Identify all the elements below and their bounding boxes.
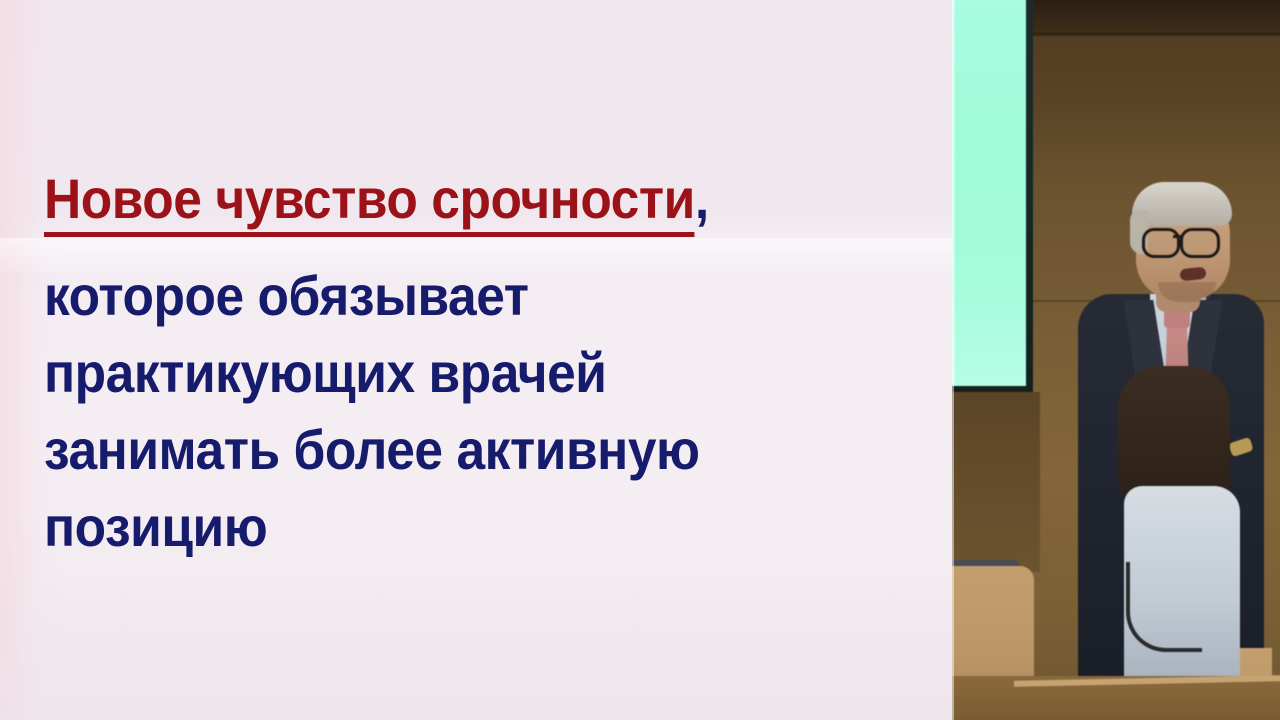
microphone-cable: [1126, 562, 1202, 652]
eyeglasses-bridge-icon: [1173, 235, 1182, 238]
slide-body-line-3: занимать более активную: [44, 411, 854, 488]
eyeglasses-right-lens-icon: [1180, 228, 1220, 258]
slide-video-composite: Новое чувство срочности, которое обязыва…: [0, 0, 1280, 720]
projection-screen: [952, 0, 1026, 386]
audience-member-figure: [1118, 366, 1250, 720]
wall-seam-upper: [1018, 33, 1280, 36]
slide-headline-line: Новое чувство срочности,: [44, 160, 854, 237]
slide-body-line-2: практикующих врачей: [44, 334, 854, 411]
wall-lower-left-shadow: [952, 392, 1040, 572]
slide-background-bottom-wash: [0, 570, 952, 720]
projection-screen-right-frame: [1026, 0, 1033, 390]
slide-body-line-4: позицию: [44, 488, 854, 565]
slide-headline-emphasis: Новое чувство срочности: [44, 167, 695, 237]
presentation-slide: Новое чувство срочности, которое обязыва…: [0, 0, 952, 720]
eyeglasses-left-lens-icon: [1142, 228, 1180, 258]
slide-video-divider: [952, 0, 954, 720]
slide-headline-comma: ,: [695, 167, 709, 230]
slide-text-block: Новое чувство срочности, которое обязыва…: [44, 160, 924, 565]
slide-body-line-1: которое обязывает: [44, 257, 854, 334]
presenter-video-overlay: [952, 0, 1280, 720]
